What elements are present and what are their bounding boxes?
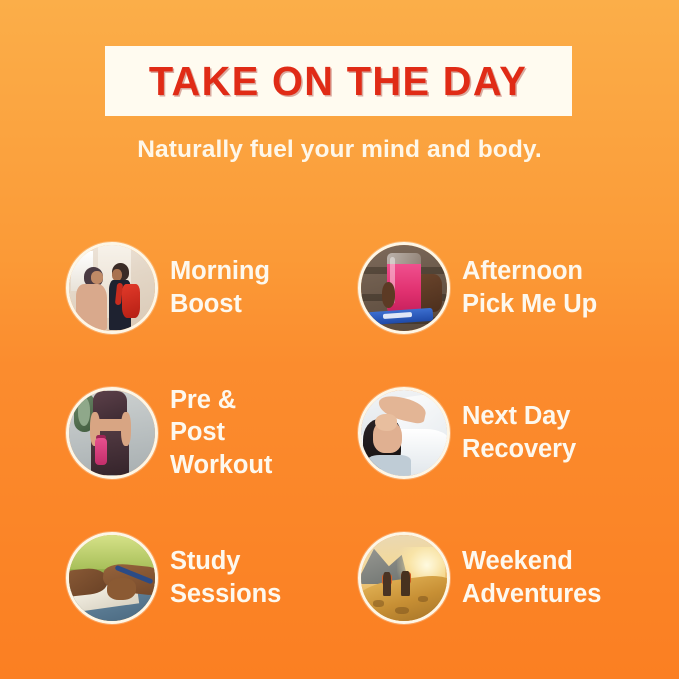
benefits-grid: Morning Boost Afternoon Pick Me Up xyxy=(0,215,679,650)
benefit-label-line1: Pre & Post xyxy=(170,386,236,447)
benefit-label-line2: Sessions xyxy=(170,578,281,611)
benefit-label: Study Sessions xyxy=(170,545,281,610)
benefits-row: Morning Boost Afternoon Pick Me Up xyxy=(0,215,679,360)
benefits-row: Study Sessions Weekend Adventures xyxy=(0,505,679,650)
benefit-label: Pre & Post Workout xyxy=(170,384,292,482)
weekend-adventures-image xyxy=(358,532,450,624)
page-subtitle: Naturally fuel your mind and body. xyxy=(0,136,679,164)
benefit-label-line2: Pick Me Up xyxy=(462,288,597,321)
benefit-label-line1: Weekend xyxy=(462,547,573,575)
benefit-label-line2: Recovery xyxy=(462,433,576,466)
benefit-label-line1: Afternoon xyxy=(462,257,583,285)
benefit-label: Afternoon Pick Me Up xyxy=(462,255,597,320)
benefit-label: Morning Boost xyxy=(170,255,270,320)
benefit-item-study-sessions: Study Sessions xyxy=(0,505,292,650)
pre-and-post-workout-image xyxy=(66,387,158,479)
benefit-label-line1: Next Day xyxy=(462,402,570,430)
benefit-label-line2: Adventures xyxy=(462,578,601,611)
benefit-item-weekend-adventures: Weekend Adventures xyxy=(292,505,679,650)
benefit-label-line1: Morning xyxy=(170,257,270,285)
benefit-label-line2: Boost xyxy=(170,288,270,321)
page-title: TAKE ON THE DAY xyxy=(149,58,527,105)
afternoon-pick-me-up-image xyxy=(358,242,450,334)
next-day-recovery-image xyxy=(358,387,450,479)
benefits-row: Pre & Post Workout Next Day Recovery xyxy=(0,360,679,505)
study-sessions-image xyxy=(66,532,158,624)
benefit-label: Weekend Adventures xyxy=(462,545,601,610)
benefit-item-afternoon-pick-me-up: Afternoon Pick Me Up xyxy=(292,215,679,360)
benefit-label: Next Day Recovery xyxy=(462,400,576,465)
benefit-label-line1: Study xyxy=(170,547,240,575)
benefit-item-morning-boost: Morning Boost xyxy=(0,215,292,360)
benefit-label-line2: Workout xyxy=(170,449,292,482)
benefit-item-pre-and-post-workout: Pre & Post Workout xyxy=(0,360,292,505)
title-banner: TAKE ON THE DAY xyxy=(105,46,572,116)
benefit-item-next-day-recovery: Next Day Recovery xyxy=(292,360,679,505)
morning-boost-image xyxy=(66,242,158,334)
